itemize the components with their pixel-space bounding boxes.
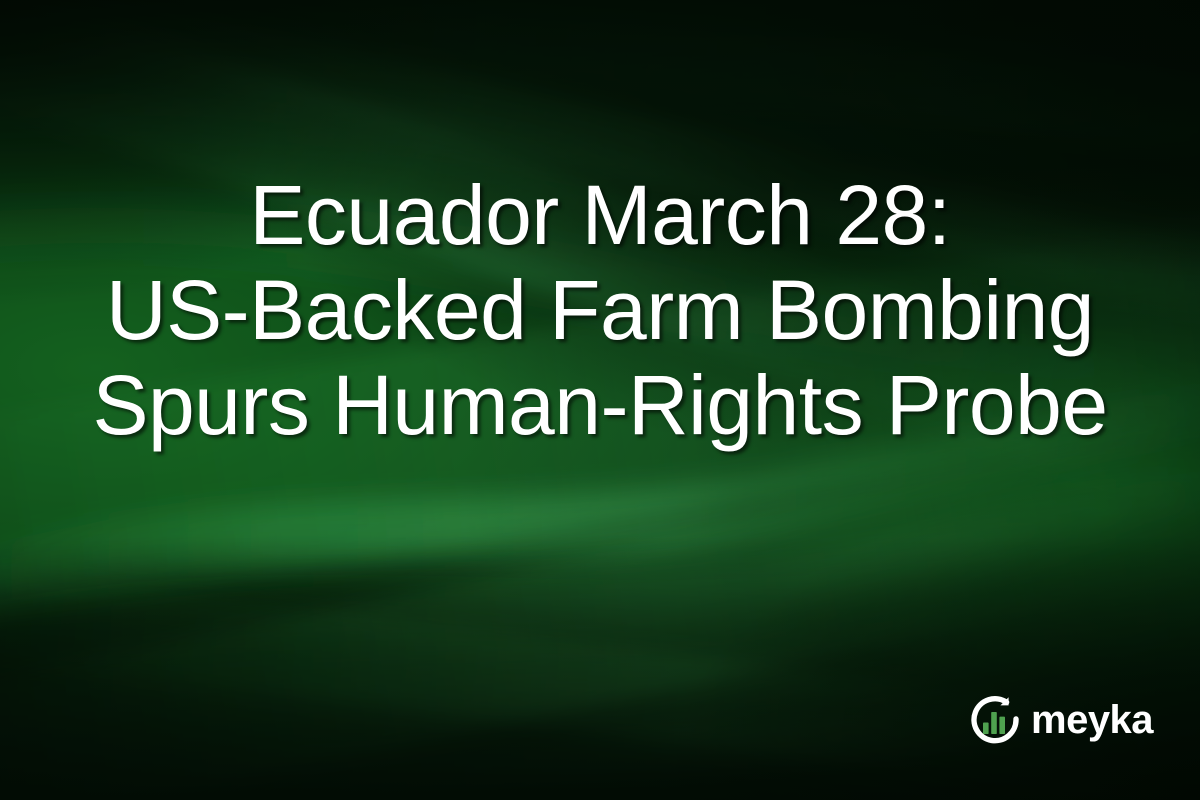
meyka-wordmark: meyka [1031,700,1153,740]
meyka-logo-icon [968,692,1022,746]
share-card-canvas: Ecuador March 28: US-Backed Farm Bombing… [0,0,1200,800]
headline-title: Ecuador March 28: US-Backed Farm Bombing… [0,168,1200,453]
logo-bar-1 [983,723,989,735]
meyka-logo[interactable]: meyka [968,692,1153,746]
logo-bar-3 [999,717,1005,734]
logo-bar-2 [991,712,997,734]
